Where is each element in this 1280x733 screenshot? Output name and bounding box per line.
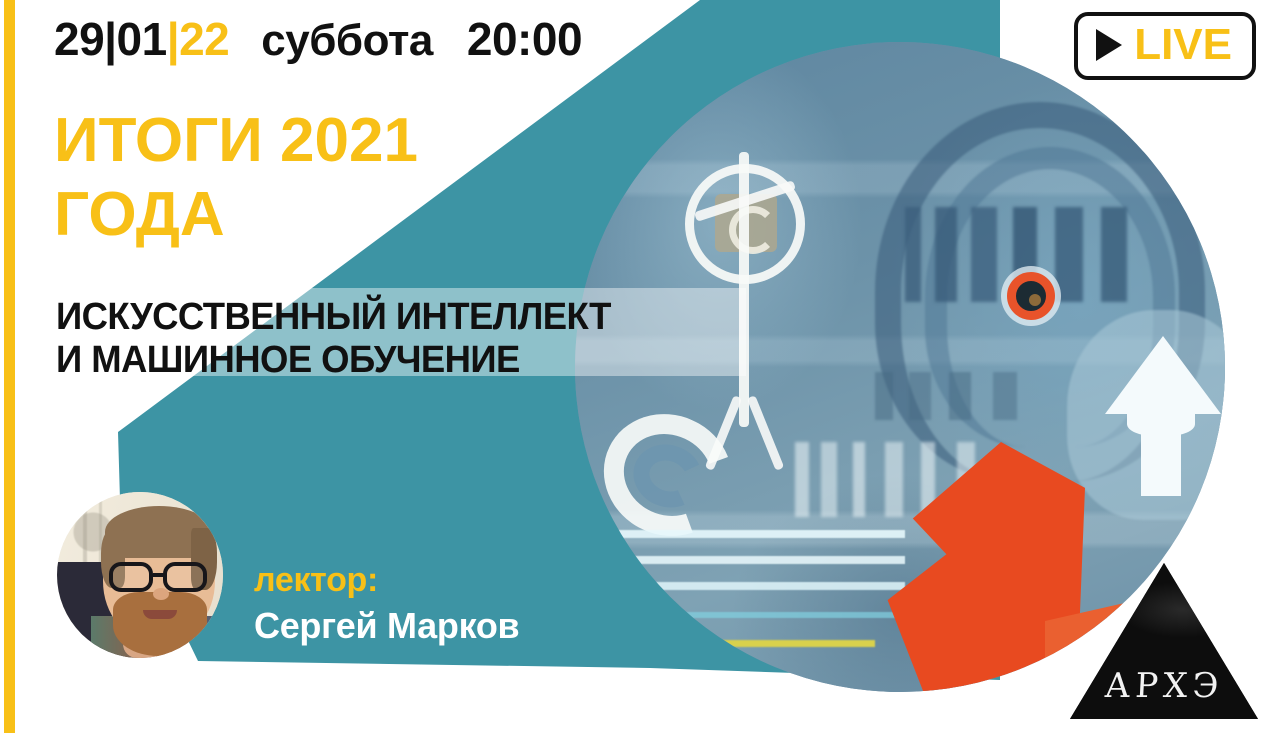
artwork-arrow-badge [1067,310,1225,520]
event-time: 20:00 [467,12,582,66]
date-year: 22 [179,12,229,66]
avatar-lens-right [163,562,207,592]
artwork-scribble-upper [875,372,1075,420]
speaker-role-label: лектор: [254,560,519,600]
date-day: 29 [54,12,104,66]
avatar-lens-left [109,562,153,592]
speaker-avatar [57,492,223,658]
date-separator-2: | [167,12,179,66]
avatar-beard [113,592,207,656]
artwork-arrow-head [1105,336,1221,414]
artwork-light-beams [575,512,905,642]
date-month: 01 [117,12,167,66]
speaker-block: лектор: Сергей Марков [254,560,519,648]
event-poster: 29 | 01 | 22 суббота 20:00 LIVE ИТОГИ 20… [0,0,1280,733]
page-title: ИТОГИ 2021 ГОДА [54,104,418,252]
event-datetime-row: 29 | 01 | 22 суббота 20:00 [54,12,582,66]
artwork-yellow-streak [575,640,875,647]
left-yellow-rule [4,0,15,733]
avatar-mouth [143,610,177,619]
arhe-logo-text: АРХЭ [1069,666,1259,706]
live-badge[interactable]: LIVE [1074,12,1256,80]
speaker-name: Сергей Марков [254,604,519,648]
glasses-icon [103,562,219,592]
page-subtitle: ИСКУССТВЕННЫЙ ИНТЕЛЛЕКТ И МАШИННОЕ ОБУЧЕ… [56,296,611,382]
artwork-orange-eye [1007,272,1055,320]
play-triangle-icon [1096,29,1122,61]
date-separator-1: | [104,12,116,66]
artwork-arrow-notch [1127,406,1195,436]
live-label: LIVE [1134,23,1232,67]
event-weekday: суббота [261,16,433,66]
arhe-logo[interactable]: АРХЭ [1070,563,1258,719]
